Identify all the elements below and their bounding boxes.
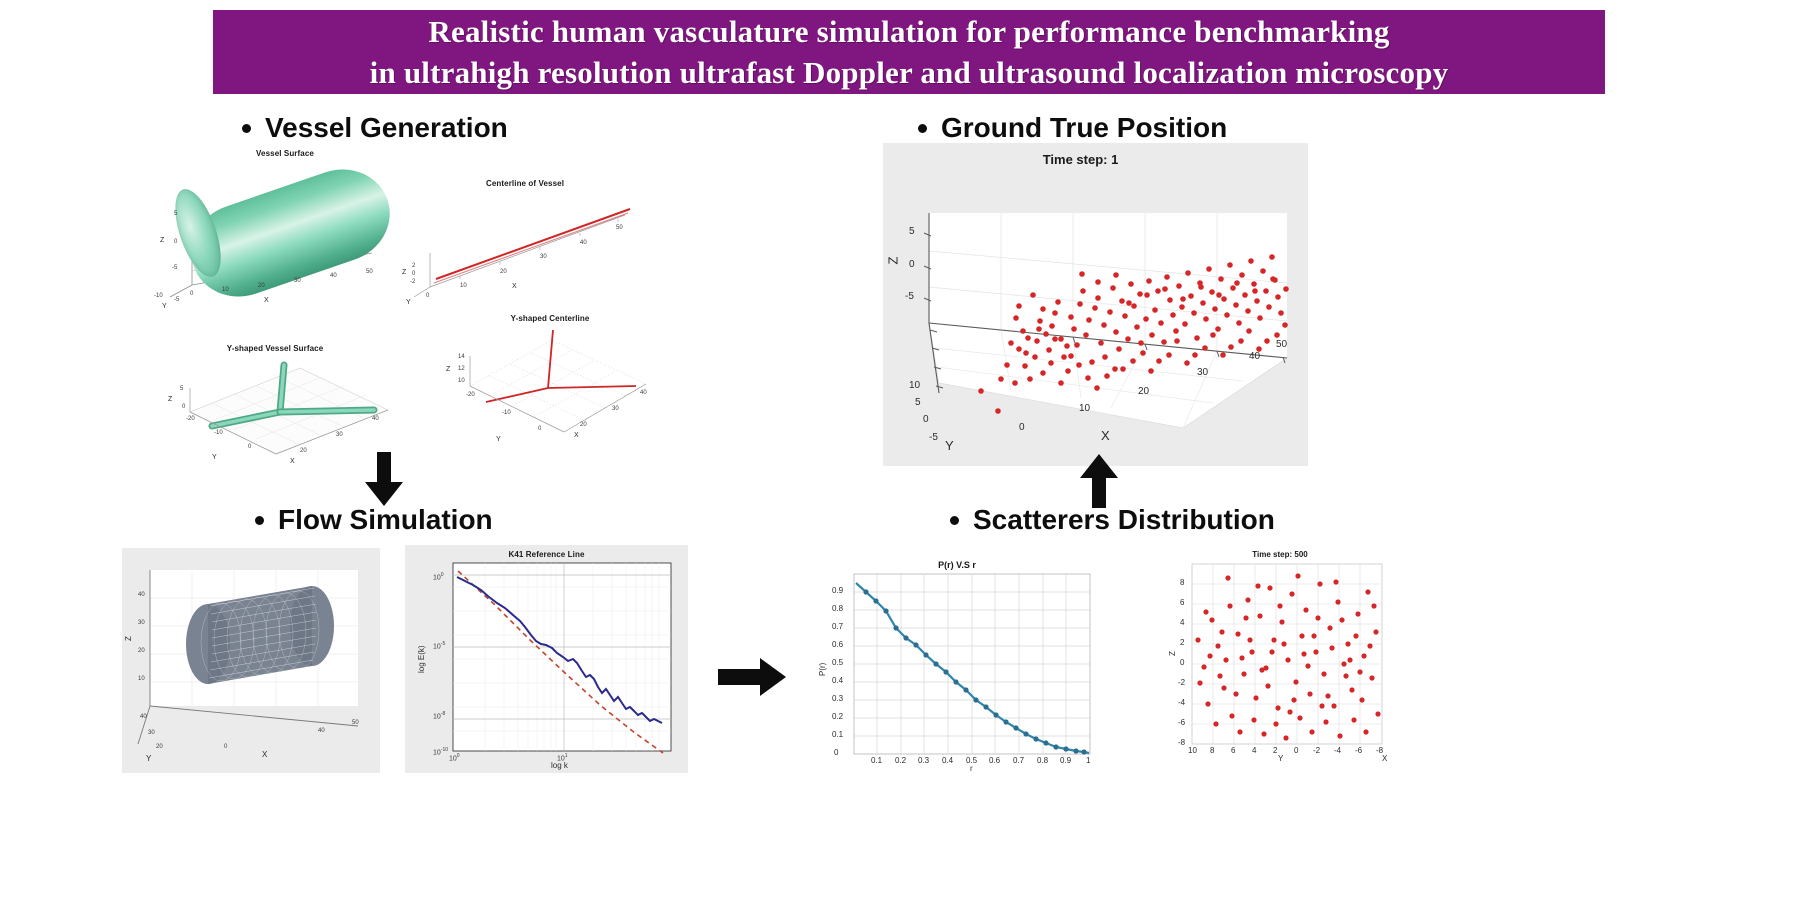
ground-truth-3d-plot — [883, 143, 1308, 466]
section-label: Ground True Position — [941, 112, 1227, 144]
x-tick: 40 — [330, 273, 337, 279]
x-tick: 40 — [580, 240, 587, 246]
x-tick: 100 — [449, 753, 460, 762]
figure-k41-reference-line: K41 Reference Line — [405, 545, 688, 773]
x-tick: 4 — [1252, 746, 1256, 755]
z-tick: 5 — [180, 386, 183, 392]
x-tick: 0 — [224, 744, 227, 750]
y-tick: 0 — [426, 293, 429, 299]
ts500-plot — [1160, 548, 1400, 773]
flow-mesh-plot — [122, 548, 380, 773]
z-tick: 14 — [458, 354, 465, 360]
x-tick: 6 — [1231, 746, 1235, 755]
y-axis-label: Y — [945, 438, 954, 453]
y-tick: -5 — [929, 432, 938, 443]
pr-plot — [812, 558, 1102, 773]
x-tick: 20 — [258, 283, 265, 289]
x-axis-label: X — [262, 750, 267, 759]
figure-centerline-of-vessel: Centerline of Vessel 10 20 30 40 50 X 2 … — [400, 175, 650, 310]
x-tick: 0.1 — [871, 756, 882, 765]
x-axis-label: X — [290, 458, 295, 465]
x-axis-label: X — [574, 432, 579, 439]
y-tick: 0.7 — [832, 622, 843, 631]
bullet-icon — [242, 124, 251, 133]
section-label: Vessel Generation — [265, 112, 508, 144]
z-tick: 10 — [138, 676, 145, 682]
slide-canvas: Realistic human vasculature simulation f… — [0, 0, 1800, 900]
y-axis-label: Y — [212, 454, 217, 461]
x-axis-label: X — [512, 283, 517, 290]
figure-scatterers-time-step-500: Time step: 500 — [1160, 548, 1400, 773]
z-axis-label: Z — [168, 396, 172, 403]
figure-y-shaped-vessel-surface: Y-shaped Vessel Surface — [150, 340, 400, 470]
y-tick: 0.3 — [832, 694, 843, 703]
y-tick: 0.5 — [832, 658, 843, 667]
z-axis-label: Z — [885, 257, 900, 265]
z-tick: 0 — [909, 259, 915, 270]
y-tick: 30 — [148, 730, 155, 736]
y-tick: 40 — [140, 714, 147, 720]
x-axis-label: r — [970, 764, 973, 773]
z-tick: 20 — [138, 648, 145, 654]
z-tick: 0 — [174, 239, 177, 245]
z-tick: -2 — [410, 279, 415, 285]
z-tick: 2 — [1180, 638, 1184, 647]
x-tick: 0 — [1019, 422, 1025, 433]
z-tick: 0 — [412, 271, 415, 277]
x-tick: 1 — [1086, 756, 1090, 765]
x-tick: 0.3 — [918, 756, 929, 765]
y-tick: 0.9 — [832, 586, 843, 595]
x-tick: 50 — [352, 720, 359, 726]
figure-ground-true-position: Time step: 1 — [883, 143, 1308, 466]
z-tick: -6 — [1178, 718, 1185, 727]
y-tick: 10-8 — [433, 711, 445, 720]
y-tick: 10-10 — [433, 747, 448, 756]
centerline-axes — [400, 175, 650, 310]
z-tick: -5 — [905, 291, 914, 302]
x-tick: 8 — [1210, 746, 1214, 755]
z-tick: -2 — [1178, 678, 1185, 687]
figure-y-shaped-centerline: Y-shaped Centerline 14 12 10 Z -20 -10 0 — [440, 310, 660, 460]
x-tick: 20 — [500, 269, 507, 275]
z-tick: 12 — [458, 366, 465, 372]
x-tick: 20 — [300, 448, 307, 454]
x-tick: 40 — [1249, 351, 1260, 362]
z-axis-label: Z — [402, 269, 406, 276]
section-heading-vessel-generation: Vessel Generation — [242, 112, 508, 144]
z-axis-label: Z — [1168, 651, 1177, 656]
x-tick: 10 — [1188, 746, 1197, 755]
figure-flow-simulation-mesh: 40 30 20 10 Z 40 30 20 Y 0 40 50 X — [122, 548, 380, 773]
y-tick: -20 — [466, 392, 475, 398]
x-tick: 0 — [190, 291, 193, 297]
x-tick: 30 — [336, 432, 343, 438]
x-tick: 0.6 — [989, 756, 1000, 765]
x-tick: 40 — [318, 728, 325, 734]
x-tick: 0 — [1294, 746, 1298, 755]
z-tick: 0 — [182, 404, 185, 410]
y-tick: 20 — [156, 744, 163, 750]
z-tick: 40 — [138, 592, 145, 598]
y-tick: 0 — [248, 444, 251, 450]
z-tick: 4 — [1180, 618, 1184, 627]
y-tick: 5 — [915, 397, 921, 408]
x-tick: 50 — [366, 269, 373, 275]
z-tick: 8 — [1180, 578, 1184, 587]
x-tick: 0.8 — [1037, 756, 1048, 765]
x-tick: 20 — [1138, 386, 1149, 397]
k41-plot — [405, 545, 688, 773]
z-tick: 0 — [1180, 658, 1184, 667]
section-heading-ground-true-position: Ground True Position — [918, 112, 1227, 144]
x-tick: 40 — [372, 416, 379, 422]
z-axis-label: Z — [446, 366, 450, 373]
arrow-vessel-to-flow — [362, 452, 406, 508]
x-tick: 10 — [222, 287, 229, 293]
x-tick: 10 — [460, 283, 467, 289]
x-tick: -4 — [1334, 746, 1341, 755]
x-tick: 50 — [1276, 339, 1287, 350]
z-axis-label: Z — [124, 636, 133, 641]
x-tick: 20 — [580, 422, 587, 428]
x-axis-label: log k — [551, 761, 568, 770]
z-tick: 2 — [412, 263, 415, 269]
section-heading-flow-simulation: Flow Simulation — [255, 504, 493, 536]
arrow-flow-to-scatterers — [718, 655, 788, 699]
title-banner: Realistic human vasculature simulation f… — [213, 10, 1605, 94]
y-tick: 100 — [433, 572, 444, 581]
y-axis-label: Y — [406, 299, 411, 306]
x-tick: 40 — [640, 390, 647, 396]
y-tick: 0.2 — [832, 712, 843, 721]
y-tick: 0.6 — [832, 640, 843, 649]
z-tick: -4 — [1178, 698, 1185, 707]
figure-p-r-vs-r: P(r) V.S r — [812, 558, 1102, 773]
z-tick: -5 — [172, 265, 177, 271]
y-axis-label: Y — [162, 303, 167, 310]
z-tick: 5 — [174, 211, 177, 217]
y-axis-label-inline: Y — [1278, 754, 1283, 763]
z-tick: 10 — [458, 378, 465, 384]
y-centerline-axes — [440, 310, 660, 460]
x-tick: 30 — [294, 278, 301, 284]
x-tick: 0.9 — [1060, 756, 1071, 765]
x-axis-label: X — [264, 297, 269, 304]
y-tick: 0.8 — [832, 604, 843, 613]
y-tick: -10 — [154, 293, 163, 299]
x-tick: 0.2 — [895, 756, 906, 765]
y-tick: 10 — [909, 380, 920, 391]
y-tick: -20 — [186, 416, 195, 422]
title-line-1: Realistic human vasculature simulation f… — [428, 11, 1389, 52]
x-tick: 2 — [1273, 746, 1277, 755]
x-tick: 50 — [616, 225, 623, 231]
y-axis-label: Y — [146, 754, 151, 763]
y-tick: -5 — [174, 297, 179, 303]
z-axis-label: Z — [160, 237, 164, 244]
section-label: Scatterers Distribution — [973, 504, 1275, 536]
y-tick: -10 — [214, 430, 223, 436]
y-tick: 0.4 — [832, 676, 843, 685]
x-tick: 30 — [612, 406, 619, 412]
x-tick: -6 — [1355, 746, 1362, 755]
x-axis-label: X — [1101, 428, 1110, 443]
section-label: Flow Simulation — [278, 504, 493, 536]
y-axis-label: Y — [496, 436, 501, 443]
x-tick: 10 — [1079, 403, 1090, 414]
x-tick: 30 — [540, 254, 547, 260]
y-tick: 0 — [834, 748, 838, 757]
y-axis-label: log E(k) — [417, 645, 426, 673]
y-tick: 10-5 — [433, 641, 445, 650]
y-axis-label: P(r) — [818, 663, 827, 676]
z-tick: -8 — [1178, 738, 1185, 747]
x-tick: 30 — [1197, 367, 1208, 378]
arrow-scatterers-to-ground — [1077, 452, 1121, 510]
y-tick: 0 — [538, 426, 541, 432]
bullet-icon — [255, 516, 264, 525]
x-tick: 0.7 — [1013, 756, 1024, 765]
y-surface-axes — [150, 340, 400, 470]
y-tick: 0 — [923, 414, 929, 425]
bullet-icon — [950, 516, 959, 525]
z-tick: 30 — [138, 620, 145, 626]
x-axis-label: X — [1382, 754, 1387, 763]
y-tick: 0.1 — [832, 730, 843, 739]
title-line-2: in ultrahigh resolution ultrafast Dopple… — [370, 52, 1449, 93]
bullet-icon — [918, 124, 927, 133]
x-tick: 0.4 — [942, 756, 953, 765]
z-tick: 5 — [909, 226, 915, 237]
y-tick: -10 — [502, 410, 511, 416]
x-tick: -2 — [1313, 746, 1320, 755]
z-tick: 6 — [1180, 598, 1184, 607]
figure-vessel-surface: Vessel Surface 5 0 -5 Z 0 10 20 30 40 50… — [140, 145, 430, 310]
